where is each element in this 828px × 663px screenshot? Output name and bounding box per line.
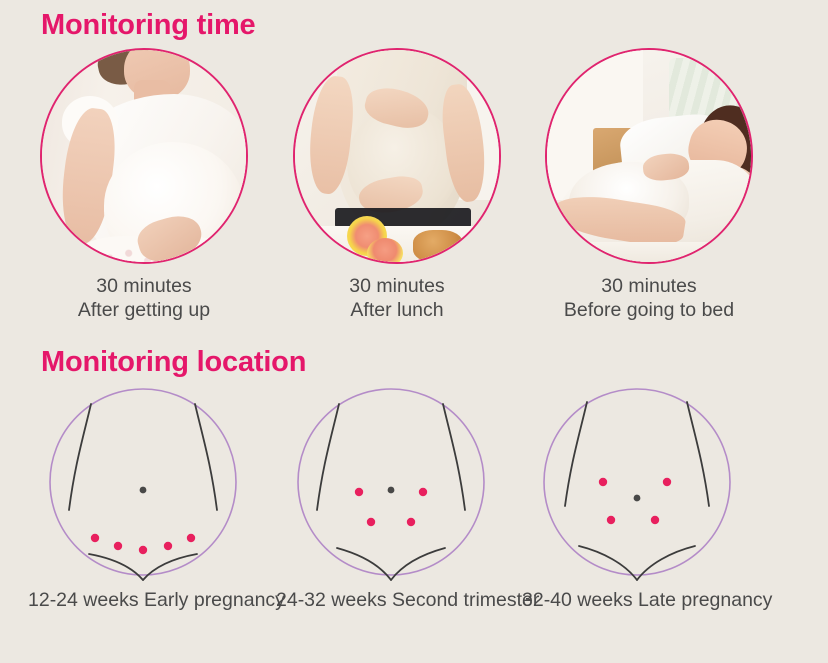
bikini-line-left — [89, 554, 143, 580]
monitoring-time-item-1: 30 minutes After getting up — [35, 48, 253, 322]
weeks-label-2: 24-32 weeks — [276, 589, 387, 611]
monitoring-location-item-3: 32-40 weeks Late pregnancy — [522, 386, 752, 612]
marker-dot — [367, 518, 375, 526]
duration-label-1: 30 minutes — [35, 274, 253, 298]
waist-contour-left — [69, 404, 91, 510]
caption-monitoring-time-1: 30 minutes After getting up — [35, 274, 253, 322]
marker-dot — [607, 516, 615, 524]
caption-monitoring-location-1: 12-24 weeks Early pregnancy — [28, 588, 258, 612]
monitoring-location-row: 12-24 weeks Early pregnancy 24-32 weeks … — [0, 386, 828, 646]
diagram-outline-circle — [298, 389, 484, 575]
caption-monitoring-location-2: 24-32 weeks Second trimester — [276, 588, 506, 612]
waist-contour-left — [565, 402, 587, 506]
marker-dot — [419, 488, 427, 496]
navel-dot — [388, 487, 395, 494]
pregnant-woman-with-fruit-photo — [293, 48, 501, 264]
marker-dot — [663, 478, 671, 486]
marker-dot — [187, 534, 195, 542]
occasion-label-3: Before going to bed — [540, 298, 758, 322]
caption-monitoring-time-3: 30 minutes Before going to bed — [540, 274, 758, 322]
duration-label-2: 30 minutes — [288, 274, 506, 298]
marker-dot — [599, 478, 607, 486]
navel-dot — [634, 495, 641, 502]
monitoring-location-item-1: 12-24 weeks Early pregnancy — [28, 386, 258, 612]
marker-dot — [114, 542, 122, 550]
occasion-label-2: After lunch — [288, 298, 506, 322]
occasion-label-1: After getting up — [35, 298, 253, 322]
marker-dot — [164, 542, 172, 550]
stage-label-1: Early pregnancy — [144, 589, 285, 611]
weeks-label-3: 32-40 weeks — [522, 589, 633, 611]
waist-contour-right — [687, 402, 709, 506]
monitoring-location-item-2: 24-32 weeks Second trimester — [276, 386, 506, 612]
marker-dot — [355, 488, 363, 496]
stage-label-2: Second trimester — [392, 589, 539, 611]
stage-label-3: Late pregnancy — [638, 589, 772, 611]
pregnant-woman-in-bed-photo — [545, 48, 753, 264]
caption-monitoring-location-3: 32-40 weeks Late pregnancy — [522, 588, 752, 612]
torso-diagram-late-pregnancy — [527, 386, 747, 582]
marker-dot — [91, 534, 99, 542]
marker-dot — [651, 516, 659, 524]
monitoring-time-item-2: 30 minutes After lunch — [288, 48, 506, 322]
marker-dot — [407, 518, 415, 526]
waist-contour-right — [195, 404, 217, 510]
monitoring-time-item-3: 30 minutes Before going to bed — [540, 48, 758, 322]
page-title-monitoring-location: Monitoring location — [41, 348, 306, 377]
navel-dot — [140, 487, 147, 494]
monitoring-time-row: 30 minutes After getting up — [0, 48, 828, 288]
weeks-label-1: 12-24 weeks — [28, 589, 139, 611]
bikini-line-right — [143, 554, 197, 580]
diagram-outline-circle — [544, 389, 730, 575]
duration-label-3: 30 minutes — [540, 274, 758, 298]
page-title-monitoring-time: Monitoring time — [41, 11, 255, 40]
torso-diagram-early-pregnancy — [33, 386, 253, 582]
torso-diagram-second-trimester — [281, 386, 501, 582]
waist-contour-right — [443, 404, 465, 510]
marker-dot — [139, 546, 147, 554]
pregnant-woman-standing-photo — [40, 48, 248, 264]
waist-contour-left — [317, 404, 339, 510]
caption-monitoring-time-2: 30 minutes After lunch — [288, 274, 506, 322]
